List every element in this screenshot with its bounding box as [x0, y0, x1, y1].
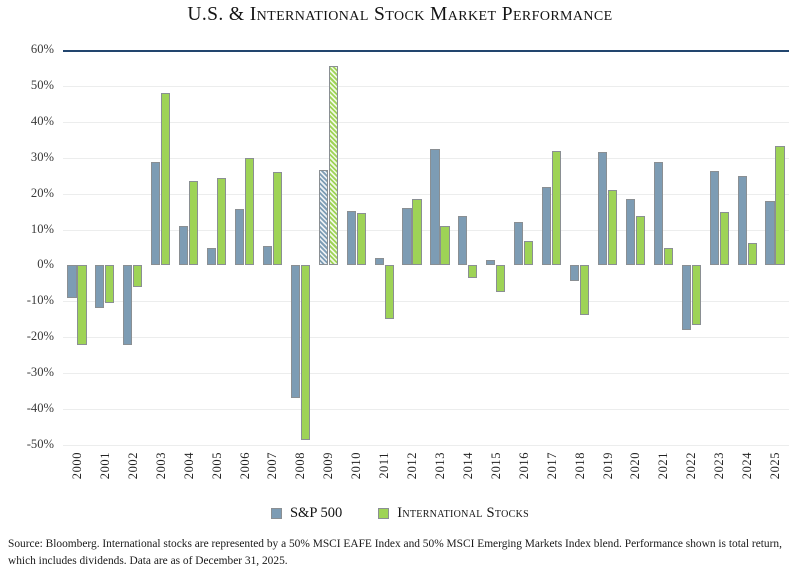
bar-sp500-2013[interactable] — [430, 149, 439, 265]
chart-container: U.S. & International Stock Market Perfor… — [0, 0, 800, 574]
bar-international-2010[interactable] — [357, 213, 366, 265]
bar-international-2005[interactable] — [217, 178, 226, 266]
x-axis-tick-label-2012: 2012 — [405, 452, 419, 479]
y-axis-tick-label: 50% — [8, 79, 54, 92]
y-axis-tick-label: 10% — [8, 223, 54, 236]
bar-international-2000[interactable] — [77, 265, 86, 344]
x-axis-tick-label-2006: 2006 — [238, 452, 252, 479]
x-axis-tick-label-2008: 2008 — [293, 452, 307, 479]
x-axis-tick-label-2000: 2000 — [70, 452, 84, 479]
bar-sp500-2006[interactable] — [235, 209, 244, 266]
bar-international-2015[interactable] — [496, 265, 505, 292]
bar-international-2008[interactable] — [301, 265, 310, 439]
x-axis-tick-label-2010: 2010 — [349, 452, 363, 479]
y-axis-tick-label: -40% — [8, 402, 54, 415]
bar-international-2023[interactable] — [720, 212, 729, 266]
x-axis-tick-label-2018: 2018 — [573, 452, 587, 479]
gridline — [63, 301, 789, 302]
legend-label: S&P 500 — [290, 505, 342, 522]
bar-sp500-2002[interactable] — [123, 265, 132, 344]
bar-sp500-2017[interactable] — [542, 187, 551, 265]
x-axis-tick-label-2007: 2007 — [265, 452, 279, 479]
bar-sp500-2009[interactable] — [319, 170, 328, 265]
x-axis-tick-label-2013: 2013 — [433, 452, 447, 479]
y-axis-tick-label: 30% — [8, 151, 54, 164]
x-axis-tick-label-2001: 2001 — [98, 452, 112, 479]
gridline — [63, 86, 789, 87]
bar-international-2021[interactable] — [664, 248, 673, 266]
x-axis-tick-label-2015: 2015 — [489, 452, 503, 479]
legend-item-international[interactable]: International Stocks — [378, 505, 529, 522]
bar-international-2022[interactable] — [692, 265, 701, 325]
bar-international-2018[interactable] — [580, 265, 589, 314]
gridline — [63, 194, 789, 195]
bar-sp500-2025[interactable] — [765, 201, 774, 266]
bar-international-2003[interactable] — [161, 93, 170, 265]
legend-swatch-icon — [378, 508, 389, 519]
x-axis-tick-label-2002: 2002 — [126, 452, 140, 479]
bar-international-2012[interactable] — [412, 199, 421, 265]
x-axis-tick-label-2019: 2019 — [601, 452, 615, 479]
bar-sp500-2018[interactable] — [570, 265, 579, 281]
bar-international-2006[interactable] — [245, 158, 254, 266]
y-axis-tick-label: 20% — [8, 187, 54, 200]
source-footnote: Source: Bloomberg. International stocks … — [8, 536, 792, 569]
x-axis-tick-label-2016: 2016 — [517, 452, 531, 479]
bar-sp500-2010[interactable] — [347, 211, 356, 265]
x-axis-tick-label-2020: 2020 — [628, 452, 642, 479]
gridline — [63, 230, 789, 231]
gridline — [63, 409, 789, 410]
bar-international-2017[interactable] — [552, 151, 561, 266]
bar-sp500-2005[interactable] — [207, 248, 216, 266]
bar-sp500-2020[interactable] — [626, 199, 635, 265]
bar-sp500-2021[interactable] — [654, 162, 663, 265]
x-axis-tick-label-2025: 2025 — [768, 452, 782, 479]
gridline — [63, 373, 789, 374]
bar-international-2013[interactable] — [440, 226, 449, 265]
bar-international-2014[interactable] — [468, 265, 477, 277]
gridline — [63, 445, 789, 446]
bar-sp500-2007[interactable] — [263, 246, 272, 266]
x-axis-tick-label-2024: 2024 — [740, 452, 754, 479]
bar-sp500-2019[interactable] — [598, 152, 607, 265]
y-axis-tick-label: -10% — [8, 294, 54, 307]
chart-legend: S&P 500International Stocks — [0, 505, 800, 522]
legend-label: International Stocks — [397, 505, 529, 522]
bar-sp500-2023[interactable] — [710, 171, 719, 265]
bar-sp500-2004[interactable] — [179, 226, 188, 265]
bar-sp500-2000[interactable] — [67, 265, 76, 298]
bar-sp500-2022[interactable] — [682, 265, 691, 330]
bar-international-2016[interactable] — [524, 241, 533, 266]
y-axis-tick-label: 40% — [8, 115, 54, 128]
y-axis-tick-label: -30% — [8, 366, 54, 379]
y-axis-tick-label: -20% — [8, 330, 54, 343]
y-axis-tick-label: 0% — [8, 258, 54, 271]
bar-international-2002[interactable] — [133, 265, 142, 287]
bar-international-2004[interactable] — [189, 181, 198, 265]
legend-item-sp500[interactable]: S&P 500 — [271, 505, 342, 522]
bar-international-2024[interactable] — [748, 243, 757, 266]
y-axis-tick-label: -50% — [8, 438, 54, 451]
x-axis-tick-label-2021: 2021 — [656, 452, 670, 479]
bar-sp500-2008[interactable] — [291, 265, 300, 398]
bar-international-2007[interactable] — [273, 172, 282, 265]
x-axis-tick-label-2009: 2009 — [321, 452, 335, 479]
bar-sp500-2024[interactable] — [738, 176, 747, 266]
y-axis-tick-label: 60% — [8, 43, 54, 56]
bar-sp500-2001[interactable] — [95, 265, 104, 308]
bar-international-2025[interactable] — [775, 146, 784, 265]
bar-international-2020[interactable] — [636, 216, 645, 265]
bar-sp500-2014[interactable] — [458, 216, 467, 265]
bar-international-2011[interactable] — [385, 265, 394, 319]
zero-axis-line — [63, 50, 789, 52]
bar-sp500-2016[interactable] — [514, 222, 523, 265]
legend-swatch-icon — [271, 508, 282, 519]
bar-international-2009[interactable] — [329, 66, 338, 265]
bar-sp500-2003[interactable] — [151, 162, 160, 265]
bar-sp500-2012[interactable] — [402, 208, 411, 265]
gridline — [63, 158, 789, 159]
x-axis-tick-label-2022: 2022 — [684, 452, 698, 479]
x-axis-tick-label-2004: 2004 — [182, 452, 196, 479]
bar-sp500-2011[interactable] — [375, 258, 384, 266]
gridline — [63, 337, 789, 338]
x-axis-tick-label-2023: 2023 — [712, 452, 726, 479]
gridline — [63, 122, 789, 123]
bar-international-2001[interactable] — [105, 265, 114, 303]
bar-international-2019[interactable] — [608, 190, 617, 265]
chart-title: U.S. & International Stock Market Perfor… — [0, 4, 800, 26]
bar-sp500-2015[interactable] — [486, 260, 495, 265]
x-axis-tick-label-2011: 2011 — [377, 452, 391, 479]
x-axis-tick-label-2005: 2005 — [210, 452, 224, 479]
x-axis-tick-label-2017: 2017 — [545, 452, 559, 479]
x-axis-tick-label-2003: 2003 — [154, 452, 168, 479]
plot-area — [63, 50, 789, 445]
x-axis-tick-label-2014: 2014 — [461, 452, 475, 479]
